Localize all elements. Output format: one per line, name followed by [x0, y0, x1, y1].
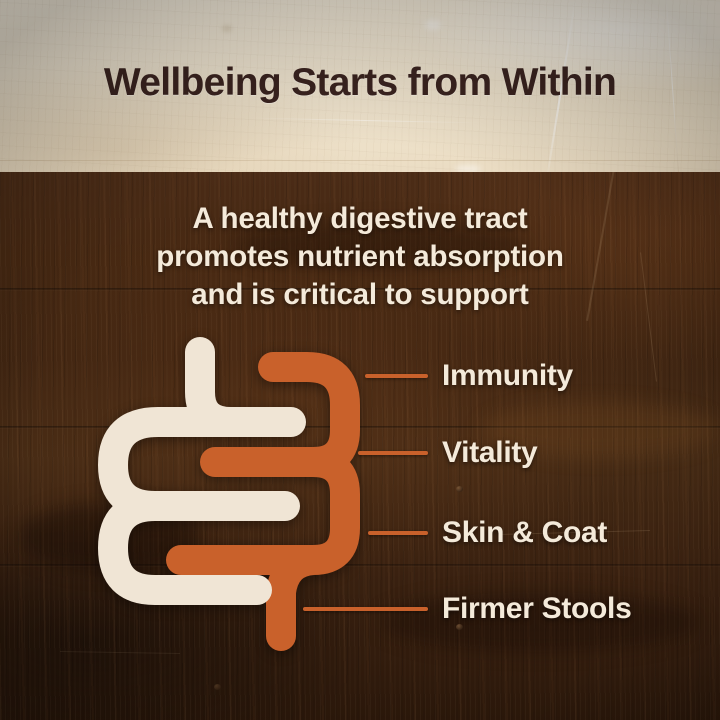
leader-line [303, 607, 428, 611]
benefit-label: Skin & Coat [442, 516, 607, 550]
infographic-root: Wellbeing Starts from Within A healthy d… [0, 0, 720, 720]
wood-scratch [60, 651, 180, 654]
page-title: Wellbeing Starts from Within [0, 0, 720, 172]
leader-line [368, 531, 428, 535]
benefit-row-skin-and-coat[interactable]: Skin & Coat [368, 510, 607, 556]
leader-line [365, 374, 428, 378]
leader-line [358, 451, 428, 455]
benefit-label: Firmer Stools [442, 592, 631, 626]
nail-head-icon [214, 684, 221, 690]
benefit-label: Immunity [442, 359, 573, 393]
intro-paragraph: A healthy digestive tract promotes nutri… [0, 200, 720, 314]
intro-line-3: and is critical to support [0, 276, 720, 314]
benefit-row-vitality[interactable]: Vitality [358, 430, 537, 476]
benefit-row-immunity[interactable]: Immunity [365, 353, 573, 399]
intro-line-1: A healthy digestive tract [0, 200, 720, 238]
nail-head-icon [456, 486, 463, 492]
intro-line-2: promotes nutrient absorption [0, 238, 720, 276]
benefit-row-firmer-stools[interactable]: Firmer Stools [303, 586, 631, 632]
benefit-label: Vitality [442, 436, 537, 470]
